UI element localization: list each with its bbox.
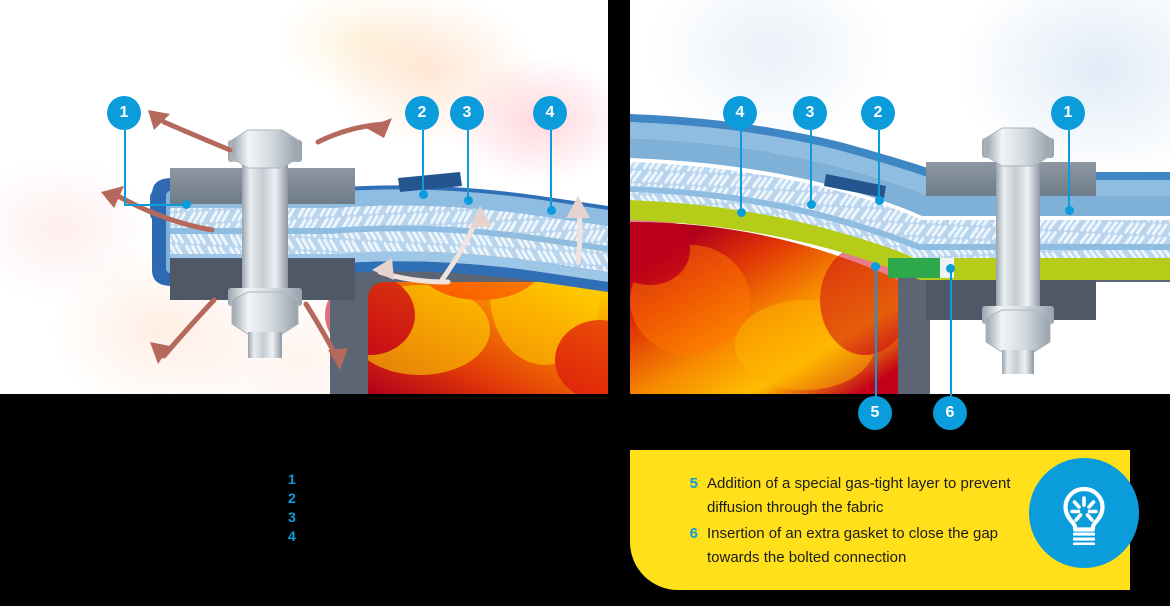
- tip-item: 6 Insertion of an extra gasket to close …: [688, 522, 1018, 570]
- callout-old-2[interactable]: 2: [405, 96, 439, 130]
- leader-dot-new-2: [875, 196, 884, 205]
- callout-new-6[interactable]: 6: [933, 396, 967, 430]
- callout-old-3[interactable]: 3: [450, 96, 484, 130]
- panel-conventional-design: [0, 0, 608, 394]
- tip-number: 5: [688, 472, 698, 496]
- leader-dot-new-1: [1065, 206, 1074, 215]
- legend-number: 3: [288, 508, 297, 527]
- leader-line-new-5: [875, 266, 877, 398]
- leader-elbow-old-1: [124, 204, 186, 206]
- callout-new-5[interactable]: 5: [858, 396, 892, 430]
- leader-line-new-3: [810, 130, 812, 204]
- leader-line-old-4: [550, 130, 552, 210]
- tip-item: 5 Addition of a special gas-tight layer …: [688, 472, 1018, 520]
- lightbulb-icon: [1029, 458, 1139, 568]
- legend-number: 4: [288, 527, 297, 546]
- leader-line-old-2: [422, 130, 424, 194]
- leader-dot-new-6: [946, 264, 955, 273]
- legend-number: 1: [288, 470, 297, 489]
- leader-line-new-4: [740, 130, 742, 212]
- leader-dot-new-5: [871, 262, 880, 271]
- legend-item: 3: [288, 508, 306, 527]
- callout-old-1[interactable]: 1: [107, 96, 141, 130]
- leader-dot-old-4: [547, 206, 556, 215]
- diagram-root: New 1 2 3 4 4 3 2 1 5 6 1 2: [0, 0, 1170, 606]
- leader-dot-new-4: [737, 208, 746, 217]
- callout-new-2[interactable]: 2: [861, 96, 895, 130]
- legend-number: 2: [288, 489, 297, 508]
- callout-old-4[interactable]: 4: [533, 96, 567, 130]
- leader-dot-old-1: [182, 200, 191, 209]
- leader-line-old-3: [467, 130, 469, 200]
- leader-dot-old-3: [464, 196, 473, 205]
- callout-new-3[interactable]: 3: [793, 96, 827, 130]
- leader-line-old-1: [124, 130, 126, 206]
- conventional-assembly-illustration: [0, 0, 608, 394]
- legend-item: 1: [288, 470, 306, 489]
- optimised-assembly-illustration: [630, 0, 1170, 394]
- tip-text: Addition of a special gas-tight layer to…: [707, 472, 1018, 520]
- leader-line-new-1: [1068, 130, 1070, 210]
- leader-line-new-2: [878, 130, 880, 200]
- leader-dot-old-2: [419, 190, 428, 199]
- tip-text: Insertion of an extra gasket to close th…: [707, 522, 1018, 570]
- leader-line-new-6: [950, 268, 952, 398]
- legend-conventional: 1 2 3 4: [288, 470, 306, 546]
- callout-new-1[interactable]: 1: [1051, 96, 1085, 130]
- tip-list: 5 Addition of a special gas-tight layer …: [688, 472, 1018, 572]
- lightbulb-glyph: [1052, 481, 1116, 545]
- tip-number: 6: [688, 522, 698, 546]
- legend-item: 4: [288, 527, 306, 546]
- panel-optimised-design: New: [630, 0, 1170, 394]
- callout-new-4[interactable]: 4: [723, 96, 757, 130]
- leader-dot-new-3: [807, 200, 816, 209]
- legend-item: 2: [288, 489, 306, 508]
